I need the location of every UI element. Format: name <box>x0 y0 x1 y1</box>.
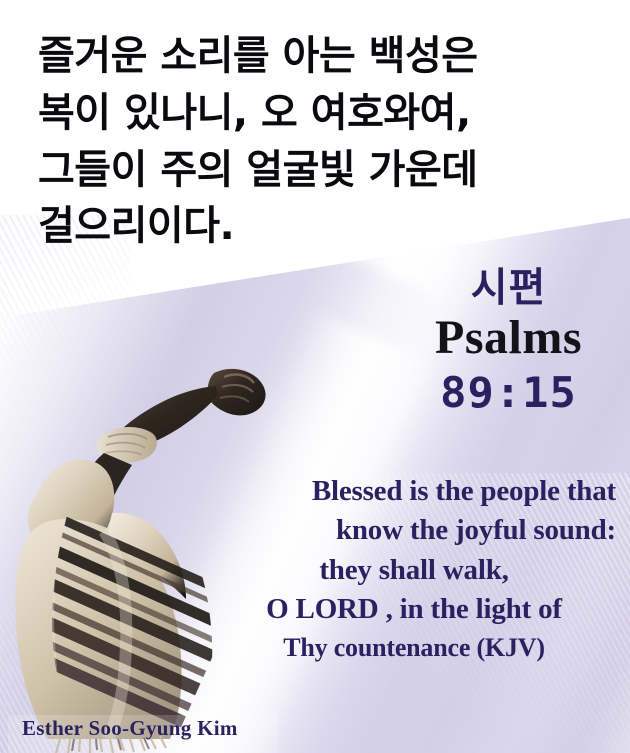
korean-verse-line: 그들이 주의 얼굴빛 가운데 <box>38 142 598 199</box>
english-verse-line: Blessed is the people that <box>212 472 616 511</box>
english-verse-line: O LORD , in the light of <box>212 590 616 629</box>
korean-verse-line: 즐거운 소리를 아는 백성은 <box>38 28 598 85</box>
english-verse-line: Thy countenance (KJV) <box>212 630 616 665</box>
reference-chapter-verse: 89:15 <box>432 372 585 414</box>
reference-book-korean: 시편 <box>435 268 582 308</box>
scripture-reference: 시편 Psalms 89:15 <box>435 268 582 414</box>
korean-verse-text: 즐거운 소리를 아는 백성은 복이 있나니, 오 여호와여, 그들이 주의 얼굴… <box>38 28 598 255</box>
english-verse-text: Blessed is the people that know the joyf… <box>212 472 616 665</box>
korean-verse-line: 복이 있나니, 오 여호와여, <box>38 85 598 142</box>
scripture-poster: 즐거운 소리를 아는 백성은 복이 있나니, 오 여호와여, 그들이 주의 얼굴… <box>0 0 630 753</box>
korean-verse-line: 걸으리이다. <box>38 198 598 255</box>
artist-signature: Esther Soo-Gyung Kim <box>22 716 238 741</box>
english-verse-line: they shall walk, <box>212 551 616 590</box>
reference-book-english: Psalms <box>435 314 582 362</box>
english-verse-line: know the joyful sound: <box>212 511 616 550</box>
